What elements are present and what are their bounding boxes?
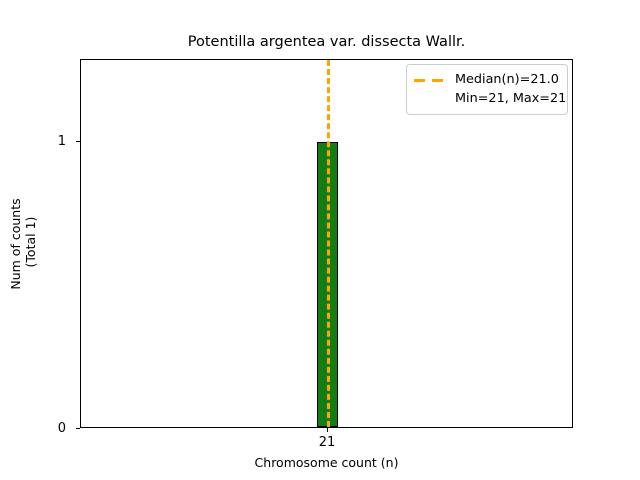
chart-figure: Potentilla argentea var. dissecta Wallr.… (0, 0, 640, 480)
y-tick-label-1: 1 (46, 135, 66, 148)
plot-inner (81, 60, 572, 427)
x-tick-label-21: 21 (319, 436, 336, 449)
legend-entry-minmax: Min=21, Max=21 (414, 89, 560, 108)
legend-label-minmax: Min=21, Max=21 (455, 91, 566, 107)
chart-title: Potentilla argentea var. dissecta Wallr. (80, 33, 573, 51)
y-axis-label-container: Num of counts (Total 1) (0, 0, 46, 480)
median-line (327, 60, 330, 427)
x-tick-mark-21 (327, 428, 328, 432)
y-axis-label: Num of counts (Total 1) (8, 198, 38, 289)
x-axis-label: Chromosome count (n) (80, 455, 573, 470)
y-tick-label-0: 0 (46, 422, 66, 435)
legend-label-median: Median(n)=21.0 (455, 72, 559, 88)
legend-entry-median: Median(n)=21.0 (414, 70, 560, 89)
dashed-line-icon (414, 73, 447, 87)
y-tick-mark-0 (76, 428, 80, 429)
chart-legend: Median(n)=21.0 Min=21, Max=21 (406, 64, 568, 115)
